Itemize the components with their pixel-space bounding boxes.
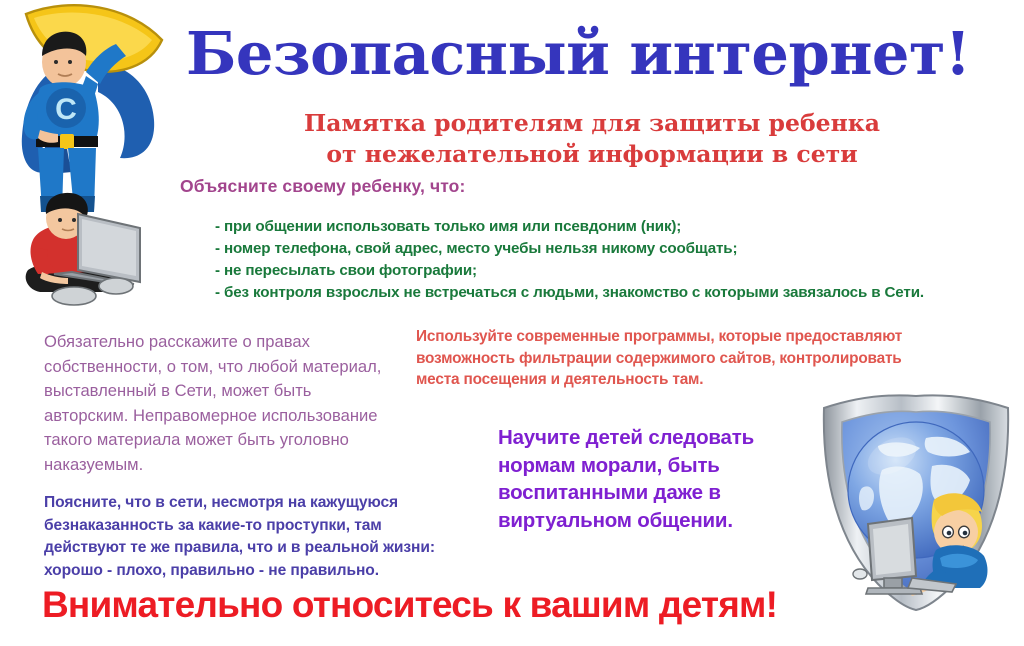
list-item: - без контроля взрослых не встречаться с… — [215, 282, 1015, 304]
paragraph-line: безнаказанность за какие-то проступки, т… — [44, 515, 474, 538]
paragraph-line: Используйте современные программы, котор… — [416, 326, 1016, 348]
superhero-with-shield-illustration: C — [2, 0, 180, 212]
real-life-rules-paragraph: Поясните, что в сети, несмотря на кажущу… — [44, 492, 474, 582]
footer-headline: Внимательно относитесь к вашим детям! — [42, 586, 777, 623]
list-item: - номер телефона, свой адрес, место учеб… — [215, 238, 1015, 260]
boy-with-laptop-illustration — [12, 186, 162, 308]
poster-canvas: C — [0, 0, 1024, 646]
copyright-advice-paragraph: Обязательно расскажите о правах собствен… — [44, 330, 384, 477]
svg-text:C: C — [55, 93, 77, 126]
list-item: - не пересылать свои фотографии; — [215, 260, 1015, 282]
paragraph-line: действуют те же правила, что и в реально… — [44, 537, 474, 560]
list-item: - при общении использовать только имя ил… — [215, 216, 1015, 238]
paragraph-line: Поясните, что в сети, несмотря на кажущу… — [44, 492, 474, 515]
shield-globe-illustration — [816, 392, 1016, 614]
paragraph-line: виртуальном общении. — [498, 507, 828, 535]
paragraph-line: места посещения и деятельность там. — [416, 369, 1016, 391]
moral-norms-paragraph: Научите детей следовать нормам морали, б… — [498, 424, 828, 534]
explain-rules-list: - при общении использовать только имя ил… — [215, 216, 1015, 304]
paragraph-line: воспитанными даже в — [498, 479, 828, 507]
filtering-software-paragraph: Используйте современные программы, котор… — [416, 326, 1016, 391]
page-title: Безопасный интернет! — [186, 24, 966, 84]
subtitle-line-2: от нежелательной информации в сети — [222, 139, 962, 170]
paragraph-line: нормам морали, быть — [498, 452, 828, 480]
paragraph-line: Научите детей следовать — [498, 424, 828, 452]
subtitle-line-1: Памятка родителям для защиты ребенка — [222, 108, 962, 139]
paragraph-line: хорошо - плохо, правильно - не правильно… — [44, 560, 474, 583]
explain-section-heading: Объясните своему ребенку, что: — [180, 176, 465, 197]
page-subtitle: Памятка родителям для защиты ребенка от … — [222, 108, 962, 170]
paragraph-line: возможность фильтрации содержимого сайто… — [416, 348, 1016, 370]
